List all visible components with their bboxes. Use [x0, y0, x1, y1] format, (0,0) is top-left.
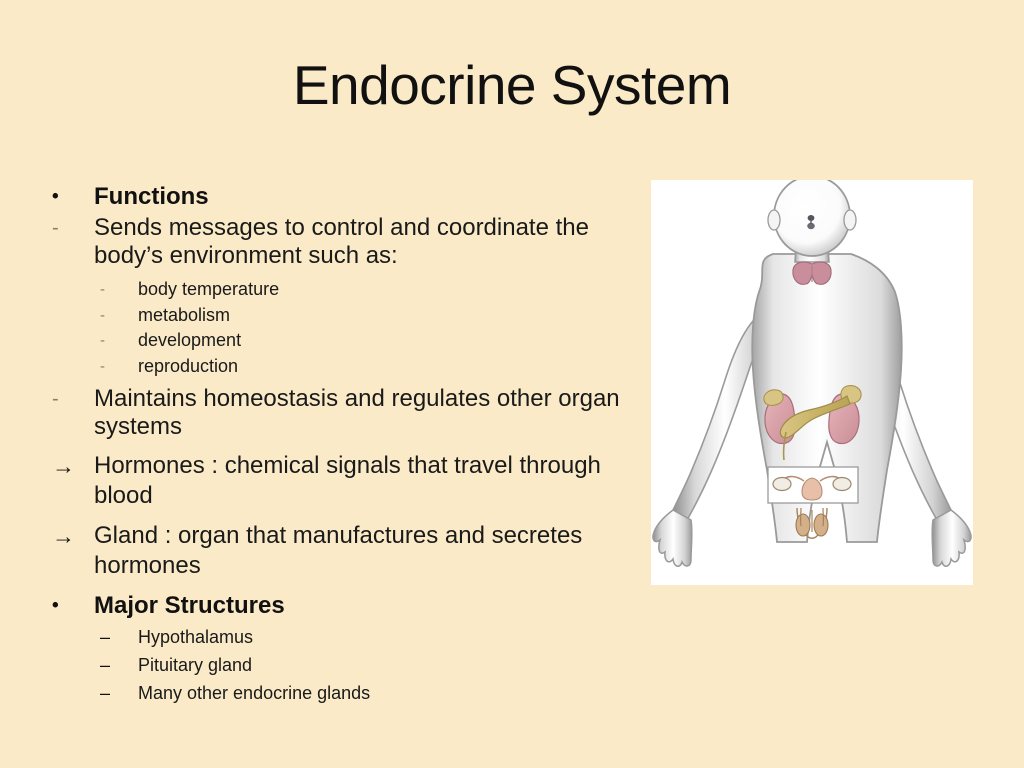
list-item-sends-messages: - Sends messages to control and coordina… — [52, 214, 622, 270]
list-item-gland: → Gland : organ that manufactures and se… — [52, 521, 622, 581]
spacer — [52, 442, 622, 451]
bullet-endash-icon: – — [100, 623, 138, 651]
uterus-ovaries-group — [768, 467, 858, 503]
bullet-endash-icon: – — [100, 651, 138, 679]
list-item-label: Maintains homeostasis and regulates othe… — [94, 385, 622, 441]
arrow-right-icon: → — [52, 521, 94, 551]
left-testis — [796, 514, 810, 536]
right-ear — [844, 210, 856, 230]
spacer — [52, 582, 622, 591]
bullet-dash-icon: - — [100, 354, 138, 380]
list-item-major-structures: • Major Structures — [52, 591, 622, 621]
list-item-reproduction: - reproduction — [52, 354, 622, 380]
list-item-label: Hypothalamus — [138, 623, 622, 651]
list-item-label: metabolism — [138, 303, 622, 329]
list-item-label: Hormones : chemical signals that travel … — [94, 451, 622, 511]
list-item-label: Functions — [94, 182, 622, 212]
list-item-label: development — [138, 328, 622, 354]
list-item-maintains-homeostasis: - Maintains homeostasis and regulates ot… — [52, 385, 622, 441]
list-item-many-other-glands: – Many other endocrine glands — [52, 679, 622, 707]
bullet-endash-icon: – — [100, 679, 138, 707]
body-diagram-svg — [651, 180, 973, 585]
list-item-metabolism: - metabolism — [52, 303, 622, 329]
bullet-dash-icon: - — [52, 214, 94, 242]
slide: Endocrine System • Functions - Sends mes… — [0, 0, 1024, 768]
list-item-functions: • Functions — [52, 182, 622, 212]
list-item-label: reproduction — [138, 354, 622, 380]
bullet-dash-icon: - — [100, 277, 138, 303]
bullet-dot-icon: • — [52, 591, 94, 621]
list-item-label: body temperature — [138, 277, 622, 303]
list-item-label: Gland : organ that manufactures and secr… — [94, 521, 622, 581]
list-item-development: - development — [52, 328, 622, 354]
right-ovary — [833, 478, 851, 491]
left-ear — [768, 210, 780, 230]
bullet-content: • Functions - Sends messages to control … — [52, 182, 622, 707]
bullet-dot-icon: • — [52, 182, 94, 212]
bullet-dash-icon: - — [100, 328, 138, 354]
endocrine-body-diagram — [651, 180, 973, 585]
page-title: Endocrine System — [0, 55, 1024, 116]
list-item-label: Pituitary gland — [138, 651, 622, 679]
bullet-dash-icon: - — [100, 303, 138, 329]
bullet-dash-icon: - — [52, 385, 94, 413]
arrow-right-icon: → — [52, 451, 94, 481]
left-ovary — [773, 478, 791, 491]
list-item-label: Sends messages to control and coordinate… — [94, 214, 622, 270]
list-item-label: Many other endocrine glands — [138, 679, 622, 707]
list-item-hormones: → Hormones : chemical signals that trave… — [52, 451, 622, 511]
right-testis — [814, 514, 828, 536]
list-item-body-temperature: - body temperature — [52, 277, 622, 303]
list-item-label: Major Structures — [94, 591, 622, 621]
thyroid-gland — [793, 262, 831, 284]
list-item-hypothalamus: – Hypothalamus — [52, 623, 622, 651]
left-adrenal-gland — [764, 390, 783, 406]
spacer — [52, 512, 622, 521]
list-item-pituitary-gland: – Pituitary gland — [52, 651, 622, 679]
